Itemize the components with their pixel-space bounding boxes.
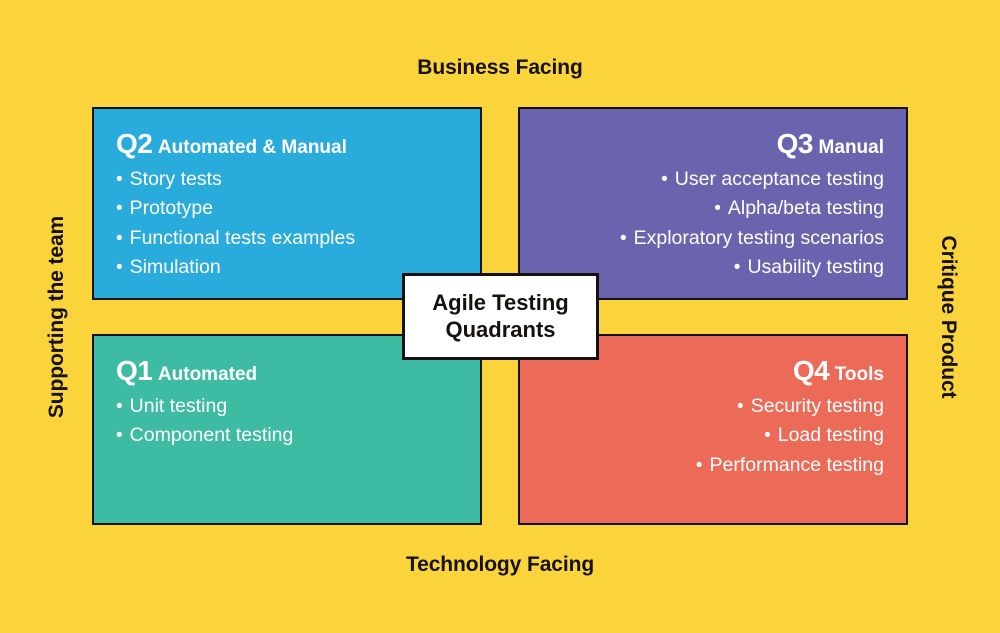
list-item-label: Simulation xyxy=(130,256,221,278)
list-item-label: Unit testing xyxy=(130,395,228,417)
bullet-icon: • xyxy=(764,425,778,446)
list-item: •User acceptance testing xyxy=(542,165,884,194)
quadrant-q4-subtitle: Tools xyxy=(835,364,884,385)
center-title-line-2: Quadrants xyxy=(445,317,555,342)
bullet-icon: • xyxy=(116,396,130,417)
list-item: •Story tests xyxy=(116,165,458,194)
list-item-label: User acceptance testing xyxy=(675,168,884,190)
axis-label-supporting-the-team: Supporting the team xyxy=(45,147,69,487)
quadrant-q2-list: •Story tests •Prototype •Functional test… xyxy=(116,165,458,283)
list-item-label: Functional tests examples xyxy=(130,227,355,249)
bullet-icon: • xyxy=(696,455,710,476)
list-item: •Load testing xyxy=(542,421,884,450)
quadrant-q2-heading: Q2 Automated & Manual xyxy=(116,127,458,160)
list-item: •Unit testing xyxy=(116,392,458,421)
quadrant-q3[interactable]: Q3 Manual •User acceptance testing •Alph… xyxy=(518,107,908,300)
bullet-icon: • xyxy=(116,228,130,249)
center-title-badge: Agile Testing Quadrants xyxy=(402,273,599,360)
list-item-label: Usability testing xyxy=(747,256,884,278)
list-item: •Component testing xyxy=(116,421,458,450)
quadrant-q3-number: Q3 xyxy=(777,128,813,159)
axis-label-technology-facing: Technology Facing xyxy=(0,553,1000,577)
list-item-label: Load testing xyxy=(778,424,884,446)
axis-label-business-facing: Business Facing xyxy=(0,56,1000,80)
bullet-icon: • xyxy=(116,425,130,446)
bullet-icon: • xyxy=(620,228,634,249)
list-item: •Exploratory testing scenarios xyxy=(542,224,884,253)
bullet-icon: • xyxy=(737,396,751,417)
quadrant-q1[interactable]: Q1 Automated •Unit testing •Component te… xyxy=(92,334,482,525)
quadrant-q4[interactable]: Q4 Tools •Security testing •Load testing… xyxy=(518,334,908,525)
bullet-icon: • xyxy=(714,198,728,219)
center-title-line-1: Agile Testing xyxy=(432,290,569,315)
list-item-label: Prototype xyxy=(130,197,213,219)
list-item: •Prototype xyxy=(116,194,458,223)
list-item: •Security testing xyxy=(542,392,884,421)
quadrant-q1-list: •Unit testing •Component testing xyxy=(116,392,458,451)
bullet-icon: • xyxy=(116,257,130,278)
list-item-label: Component testing xyxy=(130,424,294,446)
quadrant-q1-subtitle: Automated xyxy=(158,364,257,385)
bullet-icon: • xyxy=(116,169,130,190)
quadrant-q2-subtitle: Automated & Manual xyxy=(158,137,347,158)
quadrant-q2[interactable]: Q2 Automated & Manual •Story tests •Prot… xyxy=(92,107,482,300)
quadrant-q3-subtitle: Manual xyxy=(819,137,884,158)
bullet-icon: • xyxy=(116,198,130,219)
list-item-label: Security testing xyxy=(751,395,884,417)
list-item-label: Story tests xyxy=(130,168,222,190)
list-item-label: Alpha/beta testing xyxy=(728,197,884,219)
center-title-text: Agile Testing Quadrants xyxy=(432,290,569,343)
list-item-label: Performance testing xyxy=(709,454,884,476)
quadrant-q3-heading: Q3 Manual xyxy=(542,127,884,160)
bullet-icon: • xyxy=(734,257,748,278)
list-item: •Functional tests examples xyxy=(116,224,458,253)
list-item: •Performance testing xyxy=(542,451,884,480)
quadrant-q4-number: Q4 xyxy=(793,355,829,386)
quadrant-q2-number: Q2 xyxy=(116,128,152,159)
quadrant-q3-list: •User acceptance testing •Alpha/beta tes… xyxy=(542,165,884,283)
quadrant-q1-number: Q1 xyxy=(116,355,152,386)
bullet-icon: • xyxy=(661,169,675,190)
axis-label-critique-product: Critique Product xyxy=(936,147,960,487)
quadrant-q4-list: •Security testing •Load testing •Perform… xyxy=(542,392,884,480)
list-item-label: Exploratory testing scenarios xyxy=(634,227,884,249)
list-item: •Alpha/beta testing xyxy=(542,194,884,223)
